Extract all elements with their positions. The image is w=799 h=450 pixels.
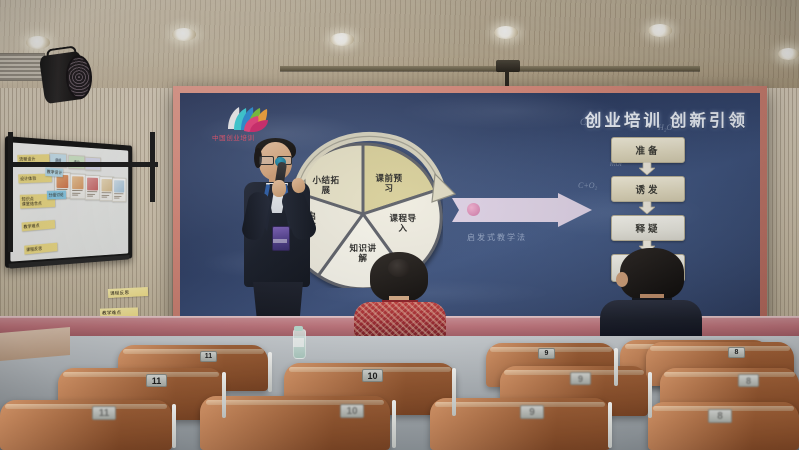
seat-divider	[614, 348, 618, 386]
flow-step[interactable]: 释疑	[611, 215, 685, 241]
audience-jacket	[354, 302, 446, 336]
pie-label: 课前预习	[367, 174, 411, 193]
presenter-hand-left	[272, 180, 286, 197]
audience-member-front-right	[596, 248, 706, 332]
whiteboard-crossbar	[8, 162, 158, 167]
whiteboard-card-artwork	[72, 176, 84, 189]
ceiling-track-rail	[280, 66, 700, 71]
ceiling-downlight	[778, 48, 799, 60]
wall-speaker-icon	[38, 44, 94, 112]
whiteboard-surface[interactable]: 课前课中课后 流程设计设计体验知识点课堂结合点教学难点课程反思教学设计分组讨论	[10, 142, 128, 261]
sticky-note[interactable]: 分组讨论	[47, 190, 66, 199]
audience-hair	[620, 248, 684, 300]
seat-divider	[648, 372, 652, 418]
auditorium-seat[interactable]: 10	[200, 396, 390, 450]
seat-number-plate: 9	[520, 405, 544, 419]
whiteboard-card-textline	[72, 192, 80, 193]
audience-jacket	[600, 300, 702, 336]
seat-divider	[608, 402, 612, 448]
whiteboard-card-artwork	[114, 180, 125, 192]
classroom-photo-scene: 课前课中课后 流程设计设计体验知识点课堂结合点教学难点课程反思教学设计分组讨论 …	[0, 0, 799, 450]
ceiling-downlight	[330, 33, 354, 46]
flow-step[interactable]: 准备	[611, 137, 685, 163]
seat-number-plate: 8	[738, 374, 759, 387]
whiteboard-content-card[interactable]	[70, 173, 86, 199]
ceiling-downlight	[494, 26, 518, 39]
seat-divider	[392, 400, 396, 448]
seat-number-plate: 11	[200, 351, 217, 362]
seat-shading	[0, 400, 172, 450]
whiteboard-card-textline	[101, 197, 107, 198]
seat-number-plate: 11	[92, 406, 116, 420]
whiteboard-card-artwork	[87, 178, 99, 190]
seat-number-plate: 8	[708, 409, 732, 423]
seat-number-plate: 10	[340, 404, 364, 418]
arrow-accent-dot	[467, 203, 480, 216]
seat-number-plate: 11	[146, 374, 167, 387]
seat-divider	[452, 368, 456, 416]
water-bottle-cap	[294, 326, 303, 331]
auditorium-seat[interactable]: 9	[430, 398, 610, 450]
whiteboard-content-card[interactable]	[112, 177, 126, 202]
id-badge-stripe	[273, 239, 287, 243]
seat-number-plate: 9	[570, 372, 591, 385]
sticky-note[interactable]: 课程反思	[24, 243, 57, 255]
seat-divider	[268, 352, 272, 392]
presenter-speaking	[231, 142, 327, 317]
whiteboard-card-textline	[101, 192, 111, 193]
ceiling-downlight	[648, 24, 672, 37]
audience-member-front-center	[348, 252, 456, 330]
audience-hair-bun	[388, 259, 410, 277]
seat-number-plate: 9	[538, 348, 555, 359]
whiteboard-card-textline	[87, 193, 95, 194]
whiteboard-card-textline	[114, 193, 123, 194]
whiteboard-stand-right	[150, 132, 155, 202]
seat-divider	[172, 404, 176, 448]
seat-number-plate: 8	[728, 347, 745, 358]
slide-title: 创业培训 创新引领	[585, 107, 748, 131]
presenter-legs	[253, 282, 303, 317]
down-arrow-icon	[639, 162, 655, 175]
arrow-caption: 启发式教学法	[467, 232, 527, 243]
ceiling-downlight	[26, 36, 50, 49]
ceiling	[0, 0, 799, 96]
chalk-scribble: C+O₂	[578, 181, 597, 190]
seat-divider	[222, 372, 226, 418]
auditorium-seat[interactable]: 8	[648, 402, 799, 450]
pie-label: 课程导入	[381, 214, 425, 233]
whiteboard-card-artwork	[101, 179, 112, 191]
whiteboard-card-textline	[87, 191, 97, 192]
auditorium-seat[interactable]: 11	[0, 400, 172, 450]
lotus-flower-logo-icon	[222, 105, 278, 132]
flow-step[interactable]: 诱发	[611, 176, 685, 202]
ceiling-downlight	[172, 28, 196, 41]
whiteboard[interactable]: 课前课中课后 流程设计设计体验知识点课堂结合点教学难点课程反思教学设计分组讨论	[5, 136, 132, 268]
down-arrow-icon	[639, 201, 655, 214]
whiteboard-card-textline	[87, 196, 93, 197]
seat-number-plate: 10	[362, 369, 383, 382]
sticky-note[interactable]: 教学难点	[22, 220, 56, 231]
audience-ear	[616, 272, 628, 287]
sticky-note[interactable]: 教学设计	[45, 167, 63, 177]
whiteboard-card-textline	[101, 194, 109, 195]
whiteboard-content-card[interactable]	[85, 175, 100, 200]
whiteboard-card-textline	[114, 195, 121, 196]
whiteboard-card-textline	[72, 190, 82, 191]
whiteboard-card-textline	[114, 197, 120, 198]
whiteboard-stand-left	[8, 132, 13, 252]
whiteboard-card-textline	[72, 194, 78, 195]
water-bottle-label	[293, 338, 304, 347]
